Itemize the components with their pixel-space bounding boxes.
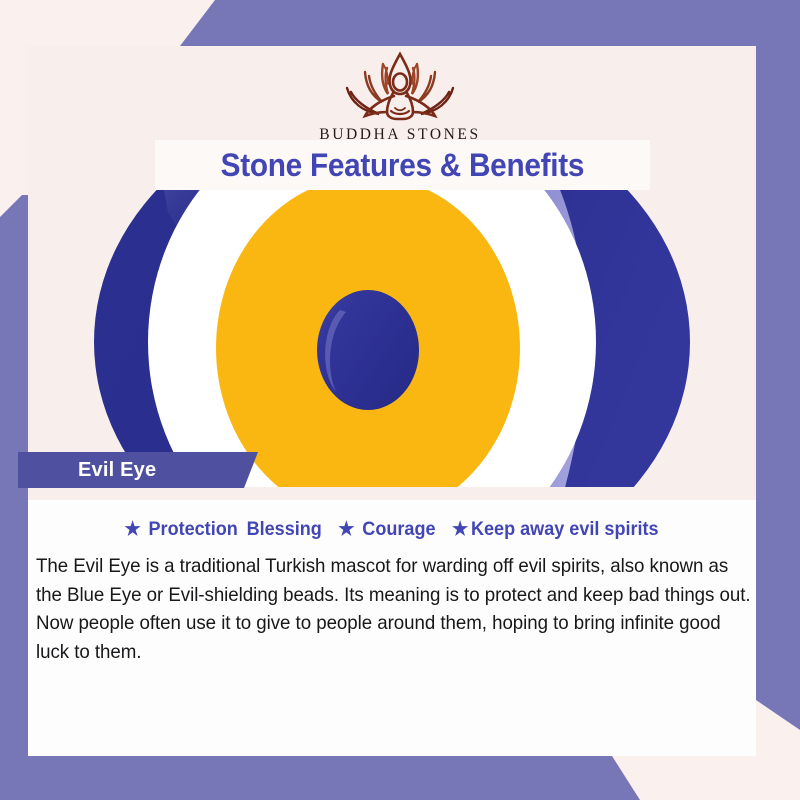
page-title: Stone Features & Benefits: [221, 147, 584, 184]
infographic-card: BUDDHA STONES Stone Features & Benefits: [0, 0, 800, 800]
product-caption-banner: Evil Eye: [18, 452, 258, 488]
title-banner: Stone Features & Benefits: [155, 140, 650, 190]
bottom-decorative-band: [0, 756, 800, 800]
top-decorative-band: [0, 0, 800, 46]
feature-list: ★ Protection Blessing ★ Courage ★Keep aw…: [46, 518, 738, 541]
right-decorative-band: [756, 0, 800, 730]
product-image: [28, 190, 756, 487]
description-text: The Evil Eye is a traditional Turkish ma…: [36, 552, 758, 666]
feature-item-blessing: Blessing: [247, 519, 322, 540]
product-caption: Evil Eye: [78, 459, 156, 482]
evil-eye-bead-icon: [28, 190, 756, 487]
left-decorative-band: [0, 195, 28, 800]
feature-item-keep-away-evil-spirits: Keep away evil spirits: [471, 519, 659, 540]
star-icon: ★: [452, 519, 468, 540]
description-panel: ★ Protection Blessing ★ Courage ★Keep aw…: [28, 500, 756, 756]
star-icon: ★: [338, 519, 354, 540]
feature-item-courage: Courage: [362, 519, 435, 540]
star-icon: ★: [124, 519, 140, 540]
feature-item-protection: Protection: [149, 519, 238, 540]
